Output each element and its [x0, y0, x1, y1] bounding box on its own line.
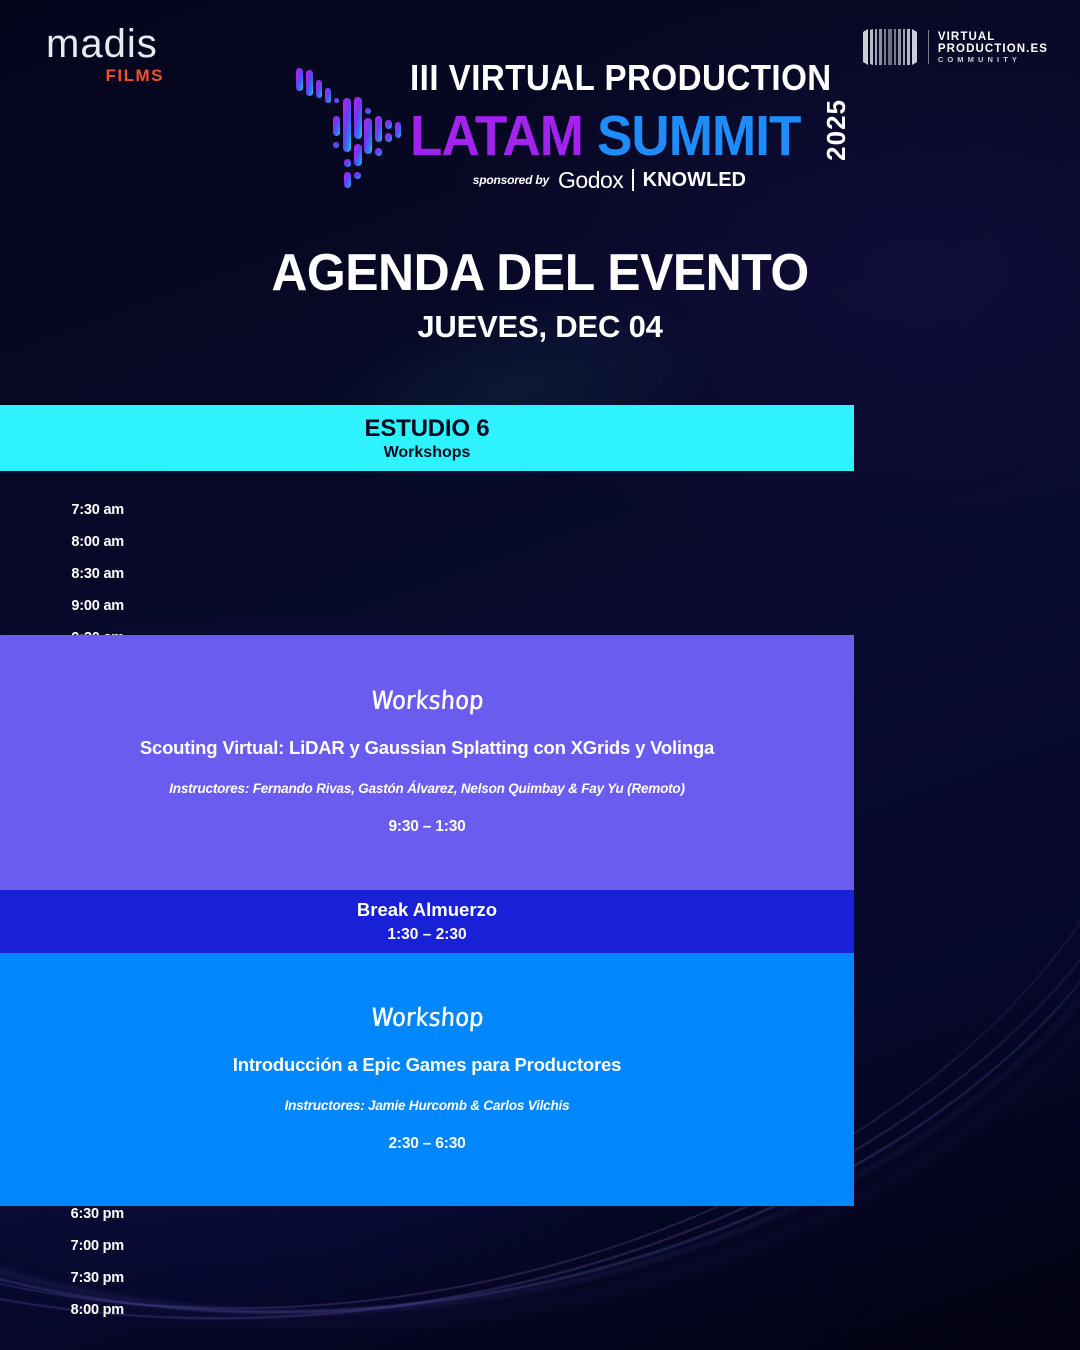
curved-bars-icon	[861, 28, 919, 66]
time-label: 7:00 pm	[0, 1230, 160, 1262]
page-title: AGENDA DEL EVENTO	[22, 243, 1059, 303]
summit-word: SUMMIT	[597, 110, 800, 162]
sponsored-by-label: sponsored by	[473, 173, 549, 187]
event-logo-text: III VIRTUAL PRODUCTION LATAM SUMMIT 2025…	[410, 60, 792, 194]
session-block-workshop-1[interactable]: Workshop Scouting Virtual: LiDAR y Gauss…	[0, 635, 854, 890]
latam-equalizer-icon	[292, 64, 404, 194]
session-block-workshop-2[interactable]: Workshop Introducción a Epic Games para …	[0, 953, 854, 1206]
track-header: ESTUDIO 6 Workshops	[0, 405, 854, 471]
event-edition-line: III VIRTUAL PRODUCTION	[410, 60, 761, 96]
knowled-logo: KNOWLED	[643, 169, 746, 192]
time-label: 8:00 am	[0, 526, 160, 558]
time-label: 9:00 am	[0, 590, 160, 622]
session-title: Introducción a Epic Games para Productor…	[233, 1053, 621, 1078]
vpes-line-2: PRODUCTION.ES	[938, 43, 1048, 55]
track-room-name: ESTUDIO 6	[365, 415, 490, 443]
madis-films-label: FILMS	[46, 66, 164, 86]
vpes-line-1: VIRTUAL	[938, 31, 1048, 43]
time-label: 8:30 am	[0, 558, 160, 590]
event-name-line: LATAM SUMMIT 2025	[410, 99, 792, 163]
event-logo: III VIRTUAL PRODUCTION LATAM SUMMIT 2025…	[292, 60, 792, 212]
break-time: 1:30 – 2:30	[387, 926, 466, 944]
madis-wordmark: madis	[46, 24, 186, 64]
session-time: 2:30 – 6:30	[388, 1135, 465, 1153]
agenda-poster: madis FILMS	[0, 0, 1080, 1350]
session-title: Scouting Virtual: LiDAR y Gaussian Splat…	[140, 736, 714, 761]
vpes-line-3: COMMUNITY	[938, 56, 1048, 64]
session-kicker: Workshop	[370, 687, 485, 716]
session-instructors: Instructores: Jamie Hurcomb & Carlos Vil…	[285, 1098, 570, 1113]
track-room-subtitle: Workshops	[384, 444, 471, 462]
year-badge: 2025	[821, 99, 852, 161]
madis-films-logo: madis FILMS	[46, 24, 186, 96]
session-kicker: Workshop	[370, 1004, 485, 1033]
logo-divider	[928, 30, 929, 64]
sponsor-line: sponsored by Godox KNOWLED	[410, 167, 746, 194]
time-label: 8:00 pm	[0, 1294, 160, 1326]
godox-logo: Godox	[558, 167, 623, 194]
poster-header: madis FILMS	[0, 0, 1080, 225]
session-time: 9:30 – 1:30	[388, 818, 465, 836]
latam-word: LATAM	[410, 110, 583, 162]
page-date: JUEVES, DEC 04	[0, 309, 1080, 345]
vpes-wordmark: VIRTUAL PRODUCTION.ES COMMUNITY	[938, 31, 1048, 64]
time-label: 7:30 am	[0, 494, 160, 526]
time-label: 7:30 pm	[0, 1262, 160, 1294]
sponsor-divider	[632, 169, 633, 191]
virtual-production-es-logo: VIRTUAL PRODUCTION.ES COMMUNITY	[861, 28, 1048, 66]
break-title: Break Almuerzo	[357, 899, 497, 921]
session-block-break[interactable]: Break Almuerzo 1:30 – 2:30	[0, 890, 854, 953]
session-instructors: Instructores: Fernando Rivas, Gastón Álv…	[169, 781, 685, 796]
